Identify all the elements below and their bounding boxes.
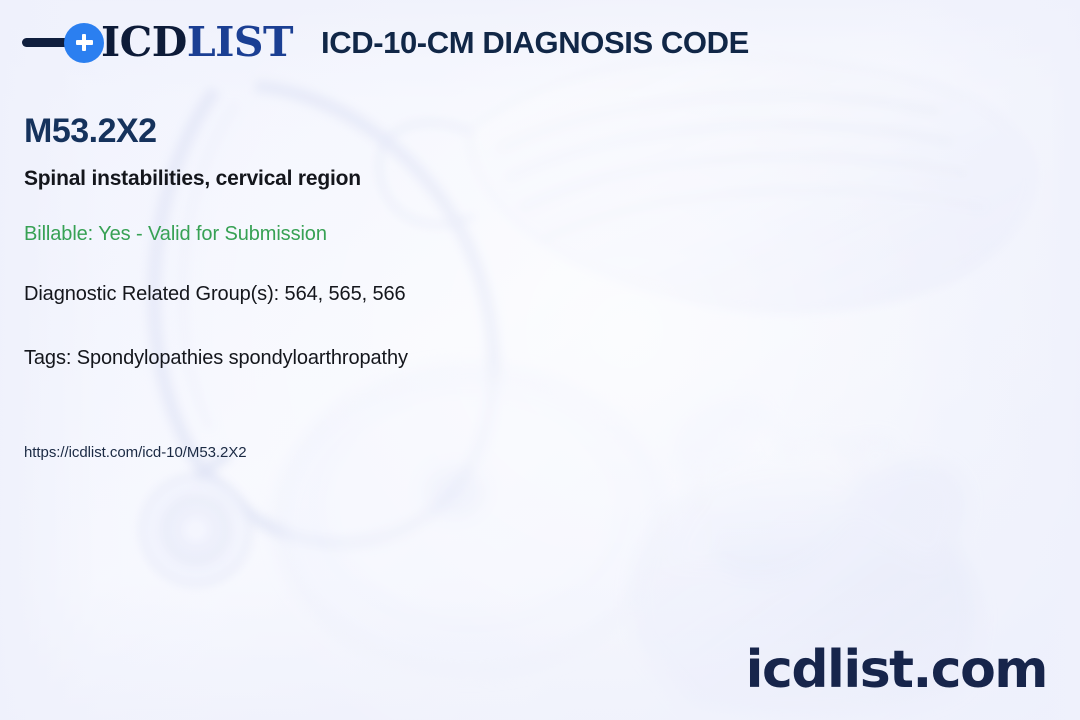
- page-title: ICD-10-CM DIAGNOSIS CODE: [321, 25, 749, 61]
- tags-line: Tags: Spondylopathies spondyloarthropath…: [24, 347, 408, 370]
- logo-word-list: LIST: [187, 18, 293, 66]
- diagnosis-description: Spinal instabilities, cervical region: [24, 166, 361, 191]
- horizontal-dash-icon: [22, 38, 70, 47]
- diagnosis-code: M53.2X2: [24, 113, 157, 150]
- logo-wordmark: ICDLIST: [101, 22, 293, 63]
- page-header: ICDLIST ICD-10-CM DIAGNOSIS CODE: [22, 22, 749, 63]
- diagnostic-related-groups: Diagnostic Related Group(s): 564, 565, 5…: [24, 283, 406, 306]
- brand-footer: icdlist.com: [746, 644, 1047, 696]
- source-url[interactable]: https://icdlist.com/icd-10/M53.2X2: [24, 444, 247, 461]
- card-content: ICDLIST ICD-10-CM DIAGNOSIS CODE M53.2X2…: [0, 0, 1080, 720]
- icd-code-card: ICDLIST ICD-10-CM DIAGNOSIS CODE M53.2X2…: [0, 0, 1080, 720]
- plus-circle-icon: [64, 23, 104, 63]
- icdlist-logo[interactable]: ICDLIST: [22, 22, 293, 63]
- billable-status: Billable: Yes - Valid for Submission: [24, 223, 327, 246]
- logo-word-icd: ICD: [101, 18, 187, 66]
